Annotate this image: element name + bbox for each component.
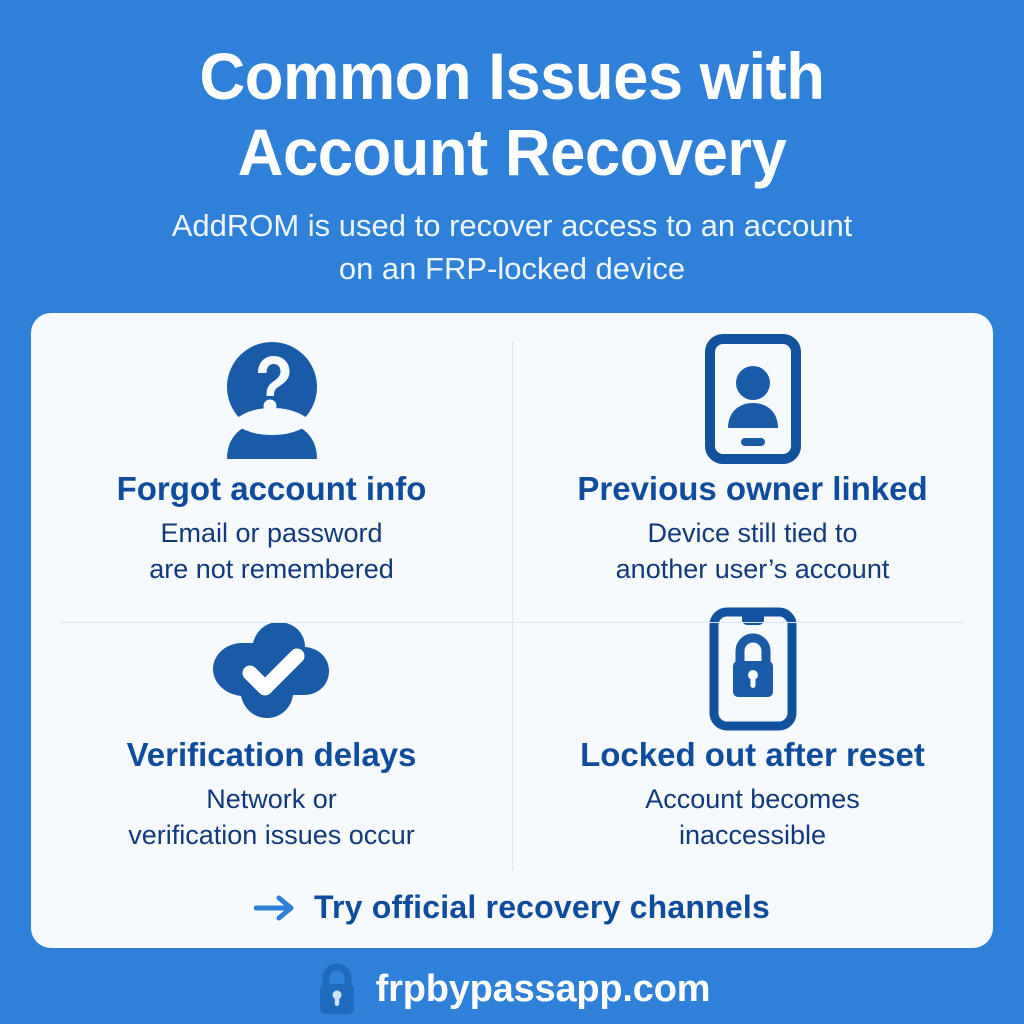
issue-description: Network or verification issues occur <box>128 781 415 853</box>
issue-description-line-1: Network or <box>128 781 415 817</box>
vertical-divider <box>512 341 513 871</box>
issue-title: Locked out after reset <box>580 735 925 775</box>
phone-lock-icon <box>709 609 797 729</box>
footer-label: frpbypassapp.com <box>376 968 711 1011</box>
issues-card: Forgot account info Email or password ar… <box>31 313 993 948</box>
cloud-check-icon <box>209 609 335 729</box>
issue-cell-locked-out-after-reset: Locked out after reset Account becomes i… <box>512 591 993 869</box>
issue-description-line-1: Email or password <box>149 515 394 551</box>
header: Common Issues with Account Recovery AddR… <box>0 0 1024 290</box>
issue-description: Device still tied to another user’s acco… <box>616 515 890 587</box>
issue-description: Account becomes inaccessible <box>645 781 860 853</box>
issue-cell-verification-delays: Verification delays Network or verificat… <box>31 591 512 869</box>
issue-cell-forgot-account-info: Forgot account info Email or password ar… <box>31 313 512 591</box>
issues-grid: Forgot account info Email or password ar… <box>31 313 993 868</box>
arrow-right-icon <box>254 894 298 922</box>
issue-title: Verification delays <box>127 735 417 775</box>
footer: frpbypassapp.com <box>0 955 1024 1024</box>
horizontal-divider <box>59 622 965 623</box>
issue-title: Previous owner linked <box>577 469 927 509</box>
cta-row[interactable]: Try official recovery channels <box>31 889 993 926</box>
issue-description-line-1: Account becomes <box>645 781 860 817</box>
issue-description-line-1: Device still tied to <box>616 515 890 551</box>
page-subtitle-line-1: AddROM is used to recover access to an a… <box>72 204 952 247</box>
page-subtitle-line-2: on an FRP-locked device <box>72 247 952 290</box>
issue-description-line-2: inaccessible <box>645 817 860 853</box>
issue-cell-previous-owner-linked: Previous owner linked Device still tied … <box>512 313 993 591</box>
cta-label: Try official recovery channels <box>314 889 770 926</box>
issue-title: Forgot account info <box>117 469 427 509</box>
issue-description-line-2: verification issues occur <box>128 817 415 853</box>
person-question-icon <box>213 335 331 463</box>
page-title-line-2: Account Recovery <box>80 114 944 190</box>
lock-icon <box>314 964 360 1016</box>
issue-description-line-2: another user’s account <box>616 551 890 587</box>
page-subtitle: AddROM is used to recover access to an a… <box>72 204 952 290</box>
phone-person-icon <box>705 335 801 463</box>
page-title-line-1: Common Issues with <box>80 38 944 114</box>
issue-description-line-2: are not remembered <box>149 551 394 587</box>
issue-description: Email or password are not remembered <box>149 515 394 587</box>
page-title: Common Issues with Account Recovery <box>80 38 944 190</box>
